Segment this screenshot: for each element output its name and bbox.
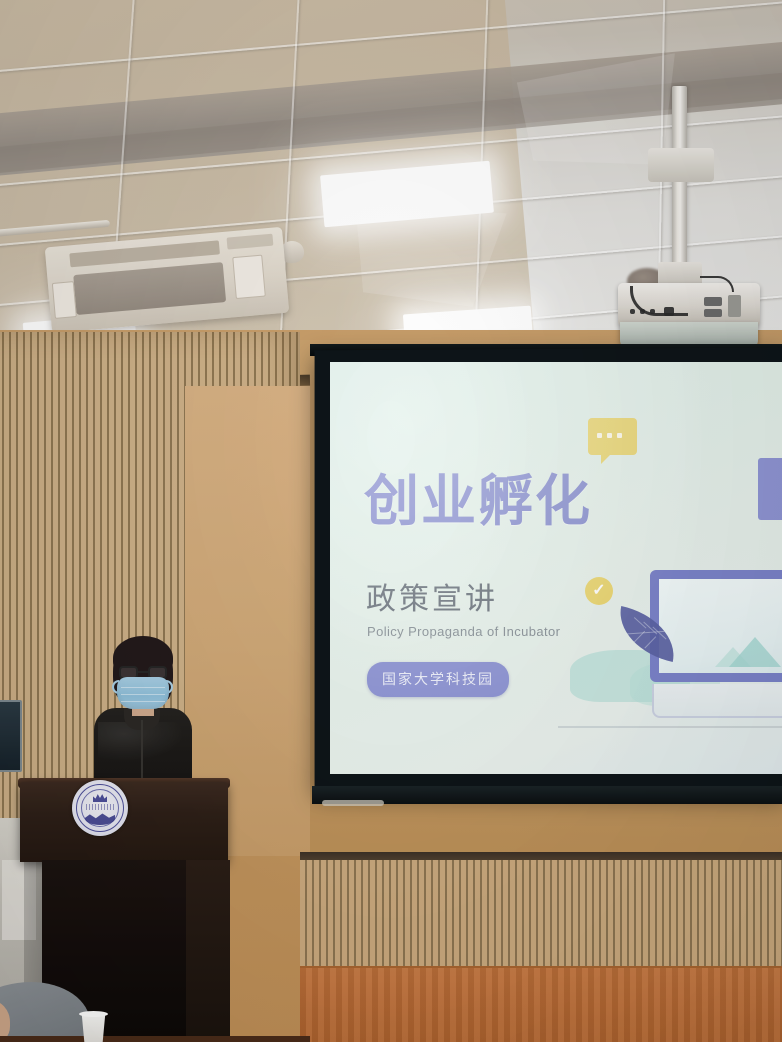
cut-off-character-icon [758,458,782,520]
face-mask [117,677,169,709]
ac-filter-grille [73,262,226,315]
lectern-side-panel [186,860,230,1042]
ac-side-vane [232,255,266,299]
monitor-screen-hill [729,637,781,667]
presenter [88,636,196,796]
check-badge-icon: ✓ [585,577,613,605]
slide-title: 创业孵化 [364,474,592,529]
projector-panel [728,295,741,317]
projector-pole-collar [648,148,714,182]
slide-english-subtitle: Policy Propaganda of Incubator [367,624,560,639]
monitor-stand-illustration [652,684,782,718]
ac-side-vane [52,281,77,319]
foreground-table-edge [0,1036,310,1042]
slide-subtitle: 政策宣讲 [366,574,498,618]
projector-port [704,309,722,317]
speech-bubble-icon [588,418,637,455]
projector-port [704,297,722,306]
monitor-illustration [650,570,782,682]
side-display-monitor [0,700,22,772]
slide-baseline-rule [558,726,782,728]
ac-vent-slot [227,234,274,250]
slide-organization-badge: 国家大学科技园 [367,662,509,697]
conference-room-photo: ✓ 创业孵化 政策宣讲 Policy Propaganda of Incubat… [0,0,782,1042]
projector-indicator [630,309,635,314]
presentation-slide: ✓ 创业孵化 政策宣讲 Policy Propaganda of Incubat… [330,362,782,774]
wall-base-panel [300,968,782,1042]
paper-cup-rim [79,1011,108,1017]
seal-text-band [86,804,114,810]
institutional-seal-emblem [72,780,128,836]
paper-cup [80,1013,107,1042]
bubble-dots [597,433,622,438]
wall-slat-panel-lower [300,860,782,972]
screen-pull-handle [322,800,384,806]
